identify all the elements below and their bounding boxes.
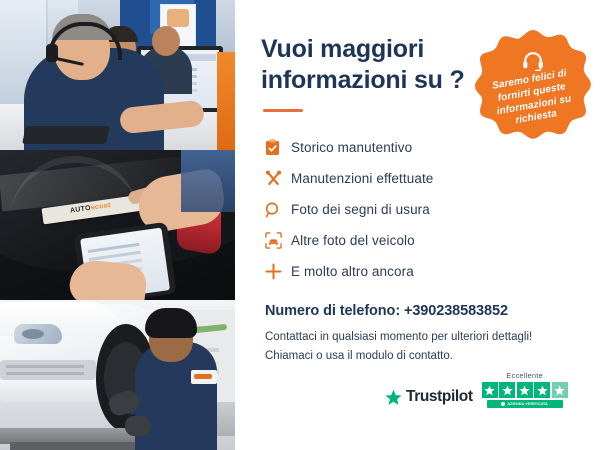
list-item: Manutenzioni effettuate (265, 165, 578, 192)
rating-caption: Eccellente (506, 371, 543, 380)
mechanic-glove-lower (125, 416, 151, 436)
verified-company-badge: AZIENDA VERIFICATA (487, 400, 563, 408)
photo-column: AUTOscout (0, 0, 235, 450)
check-icon (501, 402, 505, 406)
uniform-logo-patch (191, 370, 217, 384)
trustpilot-wordmark: Trustpilot (406, 388, 473, 406)
tools-cross-icon (265, 170, 291, 187)
car-lift-base (10, 442, 136, 450)
star-rating (482, 382, 568, 398)
list-item: Altre foto del veicolo (265, 227, 578, 254)
verified-label: AZIENDA VERIFICATA (507, 402, 548, 406)
list-item-label: Foto dei segni di usura (291, 202, 430, 217)
list-item: E molto altro ancora (265, 258, 578, 285)
trustpilot-score-block: Eccellente AZIENDA VERIFICATA (482, 371, 568, 408)
phone-number-line[interactable]: Numero di telefono: +390238583852 (265, 303, 578, 319)
star-filled (517, 382, 533, 398)
star-half (552, 382, 568, 398)
trustpilot-rating[interactable]: Trustpilot Eccellente AZIENDA VERIFICATA (385, 371, 568, 408)
star-filled (482, 382, 498, 398)
photo-wheel-inspection (0, 300, 235, 450)
page-title: Vuoi maggiori informazioni su ? (261, 34, 476, 95)
agent-background-two-head (152, 26, 180, 56)
headset-icon (522, 51, 544, 71)
list-item-label: Storico manutentivo (291, 140, 412, 155)
list-item-label: E molto altro ancora (291, 264, 414, 279)
car-frame-icon (265, 232, 291, 249)
trustpilot-logo: Trustpilot (385, 388, 473, 408)
contact-description-line-2: Chiamaci o usa il modulo di contatto. (265, 347, 578, 366)
list-item-label: Altre foto del veicolo (291, 233, 415, 248)
promo-badge: Saremo felici di fornirti queste informa… (474, 26, 592, 146)
orange-partition (217, 52, 235, 150)
list-item-label: Manutenzioni effettuate (291, 171, 433, 186)
star-filled (499, 382, 515, 398)
list-item: Foto dei segni di usura (265, 196, 578, 223)
photo-bumper-inspection: AUTOscout (0, 150, 235, 300)
background-blue-blur (181, 150, 235, 212)
clipboard-check-icon (265, 139, 291, 156)
feature-list: Storico manutentivo Manutenzioni effettu… (265, 134, 578, 285)
photo-call-center (0, 0, 235, 150)
car-grille (0, 360, 96, 380)
contact-description: Contattaci in qualsiasi momento per ulte… (265, 328, 578, 366)
trustpilot-star-icon (385, 389, 402, 406)
contact-info-banner: AUTOscout (0, 0, 600, 450)
plus-icon (265, 263, 291, 280)
car-headlight (14, 324, 62, 344)
title-underline-rule (263, 109, 303, 112)
star-filled (534, 382, 550, 398)
contact-description-line-1: Contattaci in qualsiasi momento per ulte… (265, 328, 578, 347)
content-panel: Vuoi maggiori informazioni su ? Saremo f… (235, 0, 600, 450)
desk-mat (22, 126, 110, 144)
mechanic-hair (145, 308, 197, 338)
magnifier-icon (265, 202, 291, 218)
